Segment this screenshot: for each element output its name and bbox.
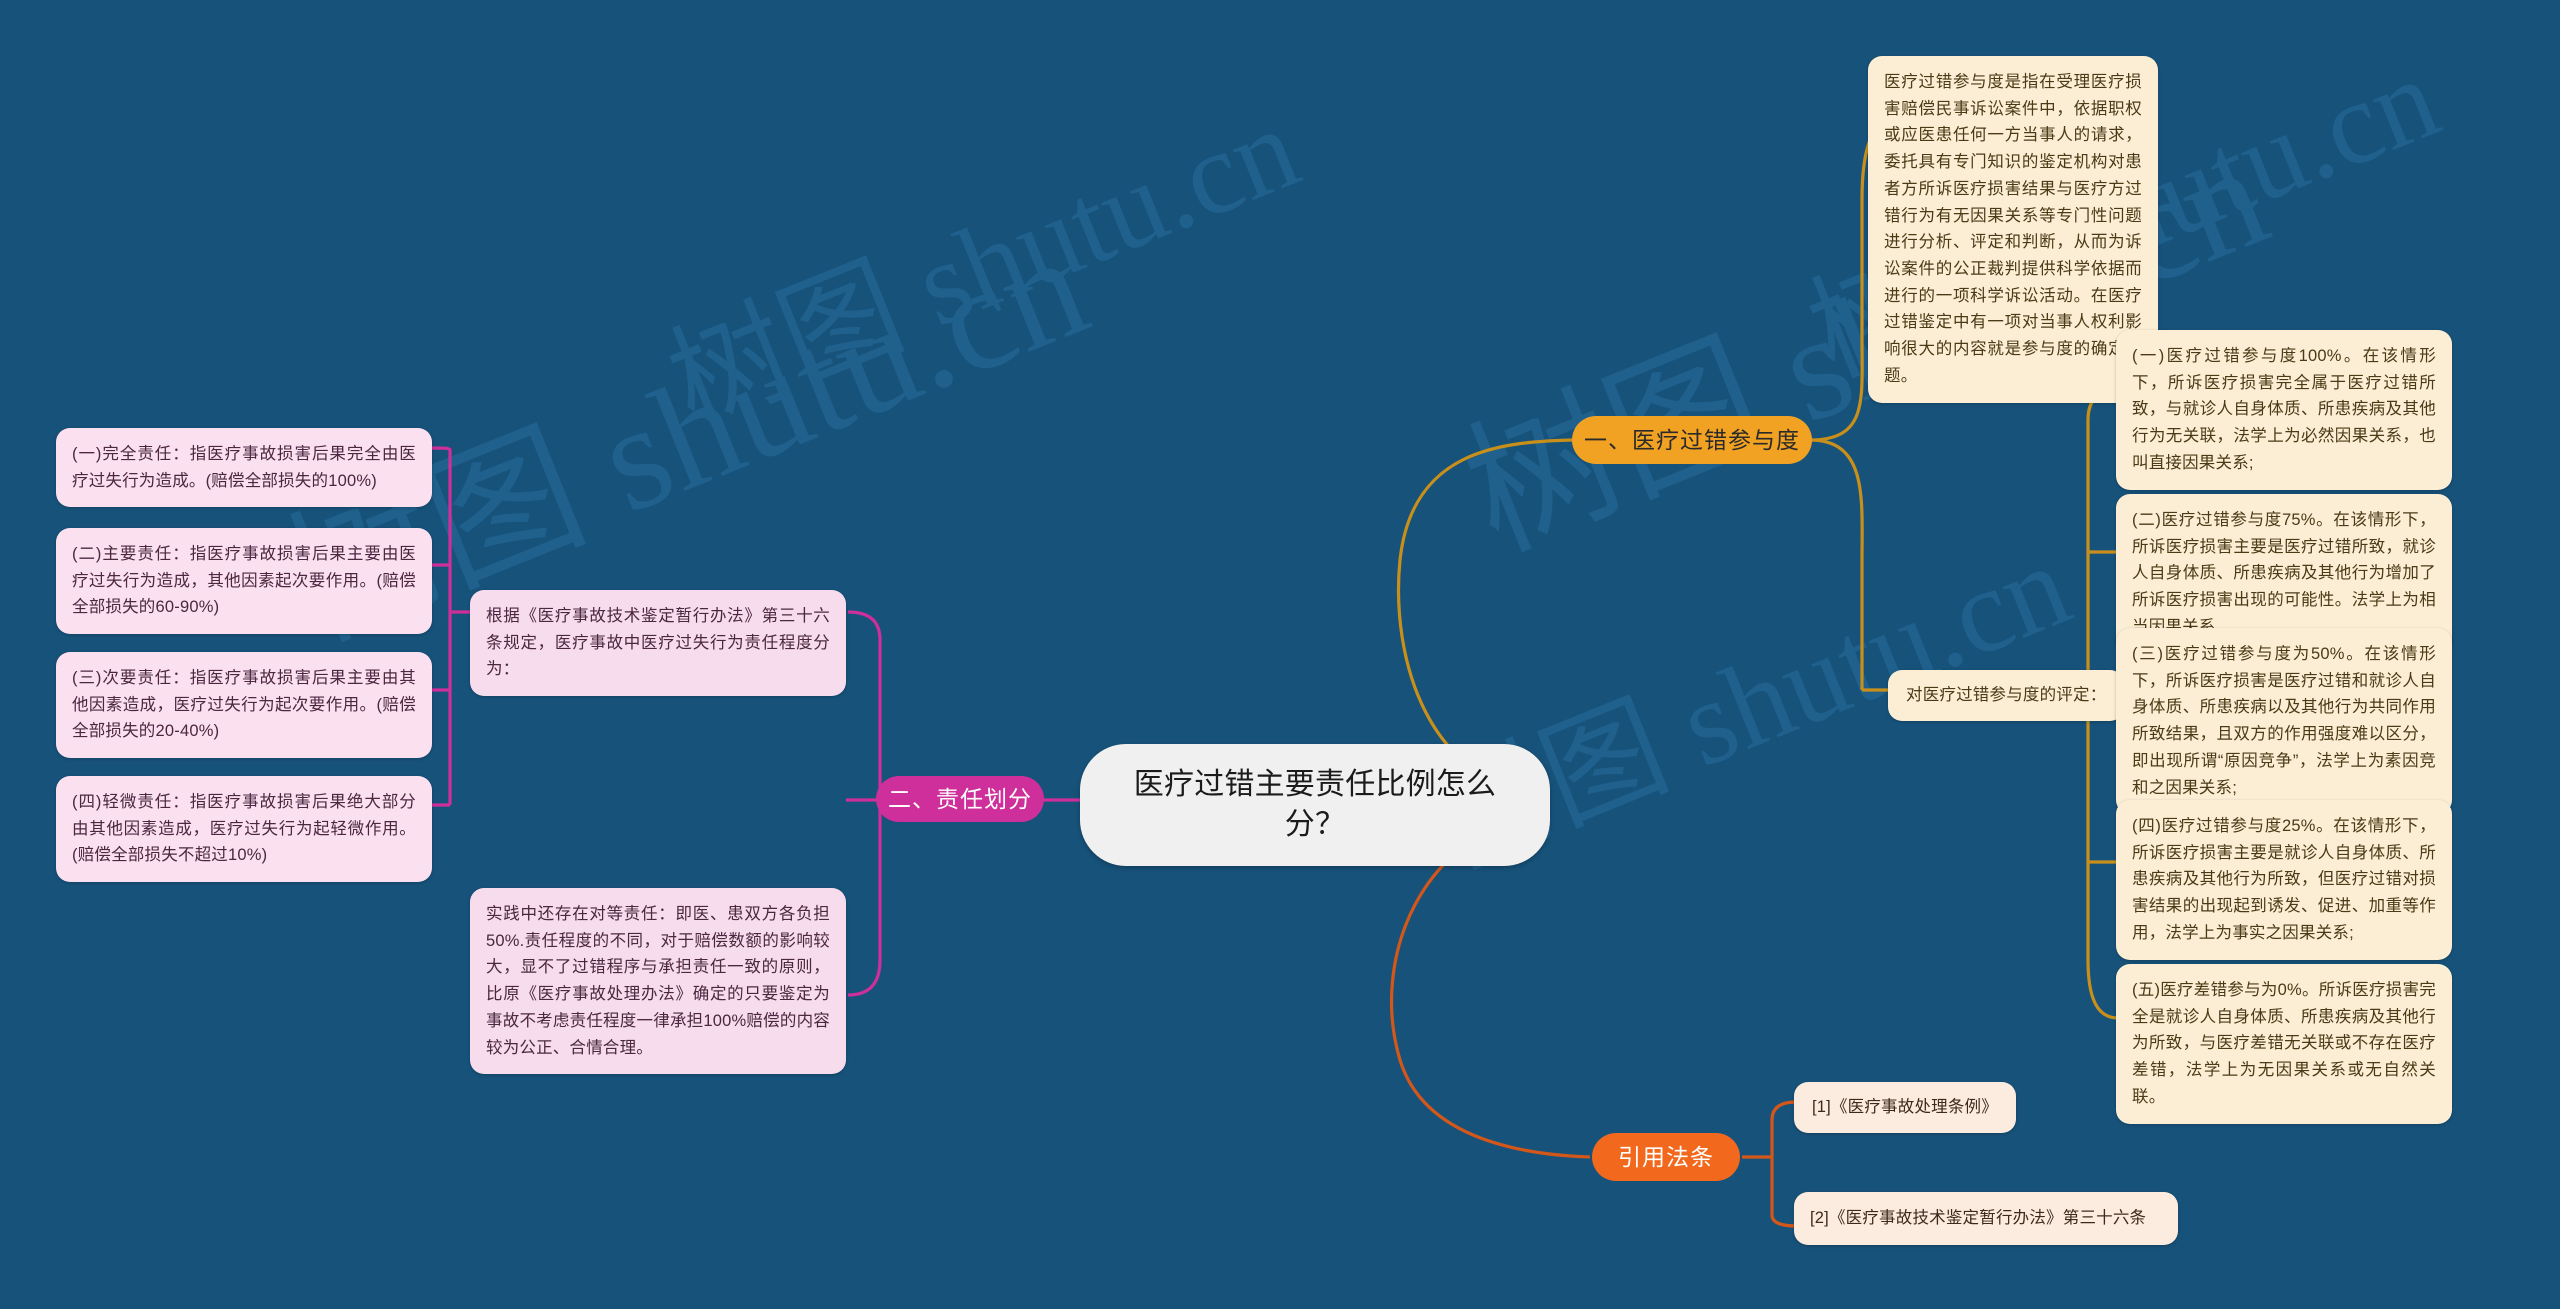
- citation-item-1[interactable]: [1]《医疗事故处理条例》: [1794, 1082, 2016, 1133]
- liability-minor[interactable]: (四)轻微责任：指医疗事故损害后果绝大部分由其他因素造成，医疗过失行为起轻微作用…: [56, 776, 432, 882]
- liability-primary[interactable]: (二)主要责任：指医疗事故损害后果主要由医疗过失行为造成，其他因素起次要作用。(…: [56, 528, 432, 634]
- root-node[interactable]: 医疗过错主要责任比例怎么分？: [1080, 744, 1550, 866]
- legal-basis-card[interactable]: 根据《医疗事故技术鉴定暂行办法》第三十六条规定，医疗事故中医疗过失行为责任程度分…: [470, 590, 846, 696]
- definition-card[interactable]: 医疗过错参与度是指在受理医疗损害赔偿民事诉讼案件中，依据职权或应医患任何一方当事…: [1868, 56, 2158, 403]
- liability-secondary[interactable]: (三)次要责任：指医疗事故损害后果主要由其他因素造成，医疗过失行为起次要作用。(…: [56, 652, 432, 758]
- watermark: 树图 shutu.cn: [640, 52, 1318, 459]
- participation-level-100[interactable]: (一)医疗过错参与度100%。在该情形下，所诉医疗损害完全属于医疗过错所致，与就…: [2116, 330, 2452, 490]
- equal-liability-note[interactable]: 实践中还存在对等责任：即医、患双方各负担50%.责任程度的不同，对于赔偿数额的影…: [470, 888, 846, 1074]
- liability-full[interactable]: (一)完全责任：指医疗事故损害后果完全由医疗过失行为造成。(赔偿全部损失的100…: [56, 428, 432, 507]
- branch-node-liability-division[interactable]: 二、责任划分: [876, 776, 1044, 822]
- evaluation-label-node[interactable]: 对医疗过错参与度的评定：: [1888, 670, 2124, 721]
- branch-node-medical-fault-participation[interactable]: 一、医疗过错参与度: [1572, 416, 1812, 464]
- participation-level-25[interactable]: (四)医疗过错参与度25%。在该情形下，所诉医疗损害主要是就诊人自身体质、所患疾…: [2116, 800, 2452, 960]
- participation-level-50[interactable]: (三)医疗过错参与度为50%。在该情形下，所诉医疗损害是医疗过错和就诊人自身体质…: [2116, 628, 2452, 814]
- mindmap-canvas: 树图 shutu.cn 树图 shutu.cn 树图 shutu.cn 树图 s…: [0, 0, 2560, 1309]
- participation-level-0[interactable]: (五)医疗差错参与为0%。所诉医疗损害完全是就诊人自身体质、所患疾病及其他行为所…: [2116, 964, 2452, 1124]
- citation-item-2[interactable]: [2]《医疗事故技术鉴定暂行办法》第三十六条: [1794, 1192, 2178, 1245]
- branch-node-citations[interactable]: 引用法条: [1592, 1133, 1740, 1181]
